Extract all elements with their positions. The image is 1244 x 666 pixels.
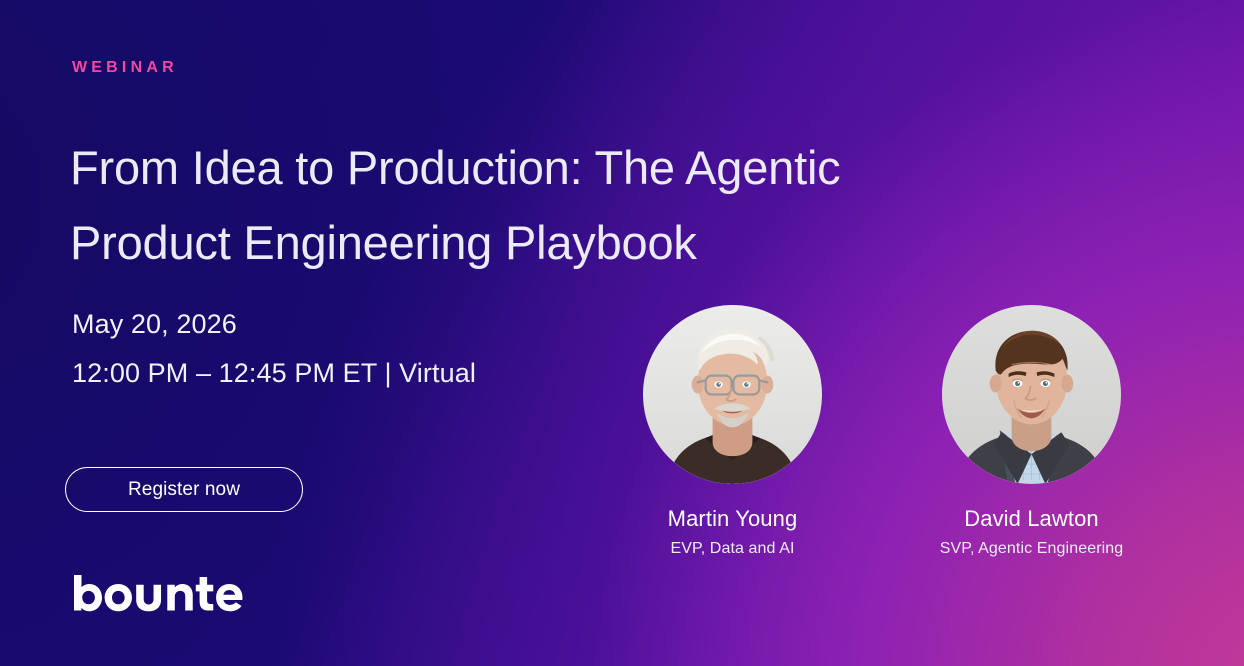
event-time: 12:00 PM – 12:45 PM ET | Virtual (72, 357, 476, 389)
speaker-card-martin-young: Martin Young EVP, Data and AI (620, 305, 845, 559)
bounteous-logo (72, 573, 260, 613)
register-now-button[interactable]: Register now (65, 467, 303, 512)
speakers-list: Martin Young EVP, Data and AI (610, 305, 1190, 559)
page-title: From Idea to Production: The Agentic Pro… (70, 130, 930, 280)
speaker-role: SVP, Agentic Engineering (940, 539, 1124, 558)
speaker-name: Martin Young (668, 506, 798, 532)
webinar-banner: WEBINAR From Idea to Production: The Age… (0, 0, 1244, 666)
speaker-name: David Lawton (964, 506, 1099, 532)
avatar-david-lawton (942, 305, 1121, 484)
banner-content: WEBINAR From Idea to Production: The Age… (0, 0, 1244, 666)
event-date: May 20, 2026 (72, 308, 237, 340)
speaker-role: EVP, Data and AI (670, 539, 794, 558)
eyebrow-label: WEBINAR (72, 60, 178, 76)
avatar-martin-young (643, 305, 822, 484)
speaker-card-david-lawton: David Lawton SVP, Agentic Engineering (919, 305, 1144, 559)
